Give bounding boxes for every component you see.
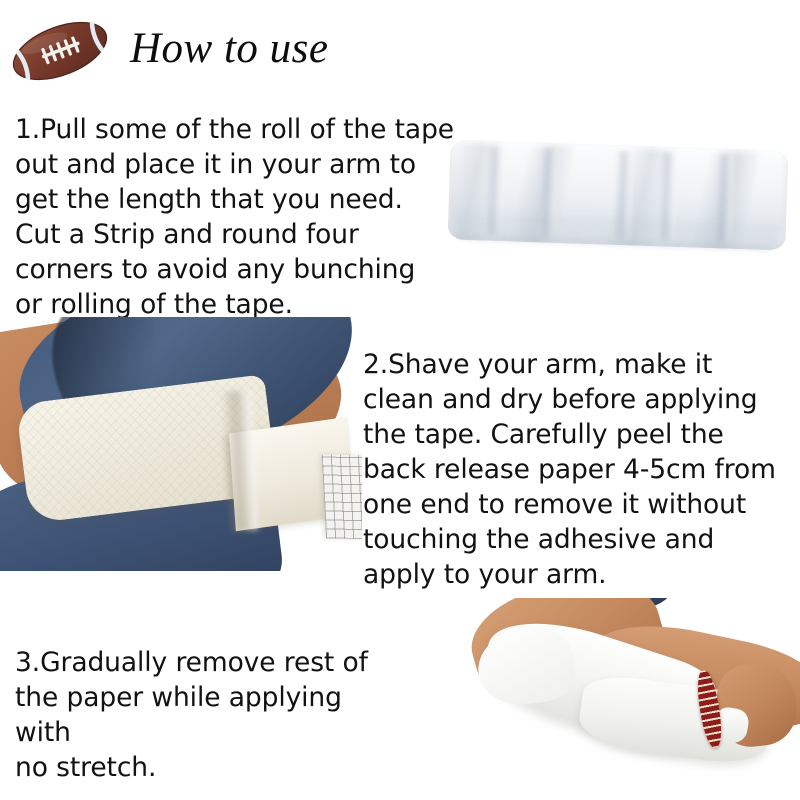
american-football-icon: [8, 14, 112, 88]
page-title: How to use: [130, 24, 329, 74]
how-to-use-instruction-graphic: How to use 1.Pull some of the roll of th…: [0, 0, 800, 800]
taped-arm-photo: [462, 598, 800, 798]
step-2-text: 2.Shave your arm, make it clean and dry …: [363, 347, 800, 592]
tape-strip-photo: [447, 139, 788, 250]
release-paper-grid: [322, 455, 362, 540]
header: How to use: [0, 0, 800, 100]
arm-with-tape-photo: [0, 317, 362, 571]
step-1-text: 1.Pull some of the roll of the tape out …: [15, 112, 485, 322]
step-3-text: 3.Gradually remove rest of the paper whi…: [15, 645, 395, 785]
